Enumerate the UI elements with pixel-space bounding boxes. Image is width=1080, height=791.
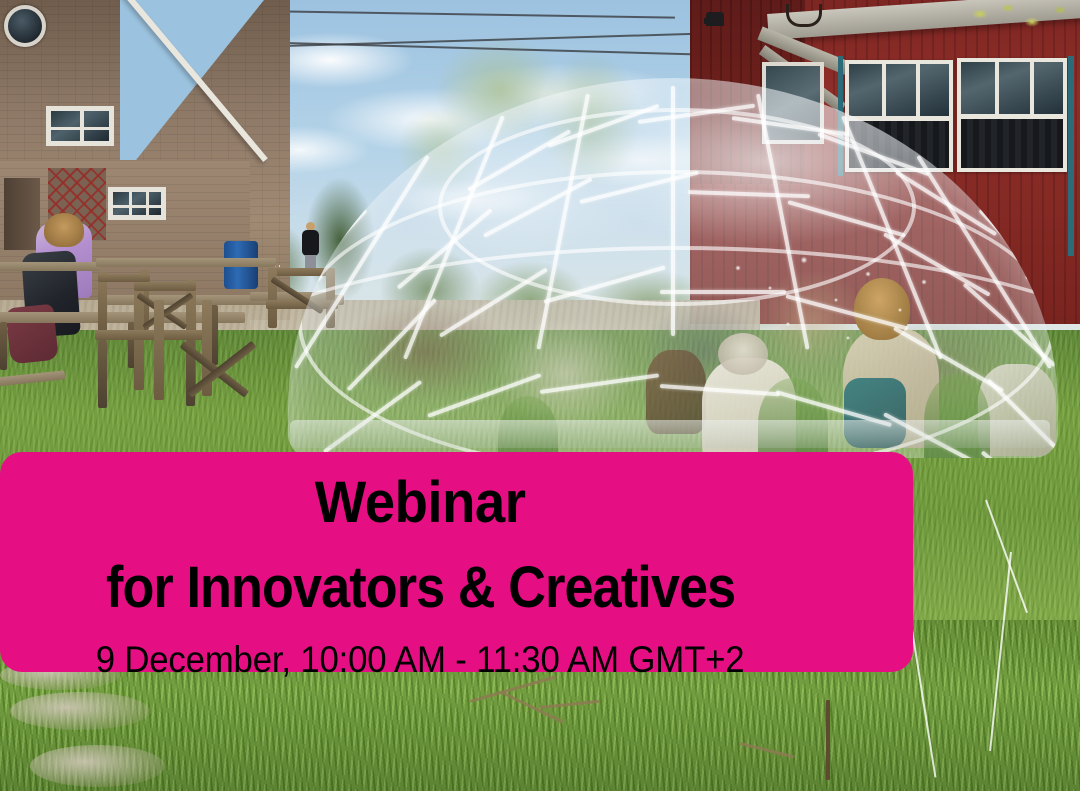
chair-back-rail [98, 274, 150, 282]
dome-person-hair [718, 333, 768, 375]
house-window [108, 187, 166, 220]
person-hair [44, 213, 84, 247]
dome-base-skirt [290, 420, 1050, 448]
dirt-patch [10, 692, 150, 730]
antler-decoration-icon [786, 4, 822, 27]
banner-date-time: 9 December, 10:00 AM - 11:30 AM GMT+2 [96, 641, 745, 678]
dome-person-hair [854, 278, 910, 340]
dirt-patch [30, 745, 165, 787]
picnic-table-top [0, 262, 100, 271]
barn-lamp-icon [706, 12, 724, 26]
webinar-promo-image: Webinar for Innovators & Creatives 9 Dec… [0, 0, 1080, 791]
banner-subtitle: for Innovators & Creatives [106, 559, 735, 617]
geodesic-dome [288, 78, 1058, 458]
house-window [46, 106, 114, 146]
barn-trim [1068, 56, 1074, 256]
hanging-vine [960, 0, 1080, 40]
chair-post [154, 300, 164, 400]
banner-title: Webinar [315, 474, 526, 532]
bench-leg [0, 322, 7, 370]
chair-leg [98, 340, 107, 408]
chair-seat [95, 330, 205, 340]
chair-top-rail [134, 282, 196, 291]
round-window-icon [4, 5, 46, 47]
picnic-table-top [96, 258, 276, 267]
dark-door [4, 178, 40, 250]
webinar-banner: Webinar for Innovators & Creatives 9 Dec… [0, 452, 913, 672]
tent-stake [826, 700, 830, 780]
